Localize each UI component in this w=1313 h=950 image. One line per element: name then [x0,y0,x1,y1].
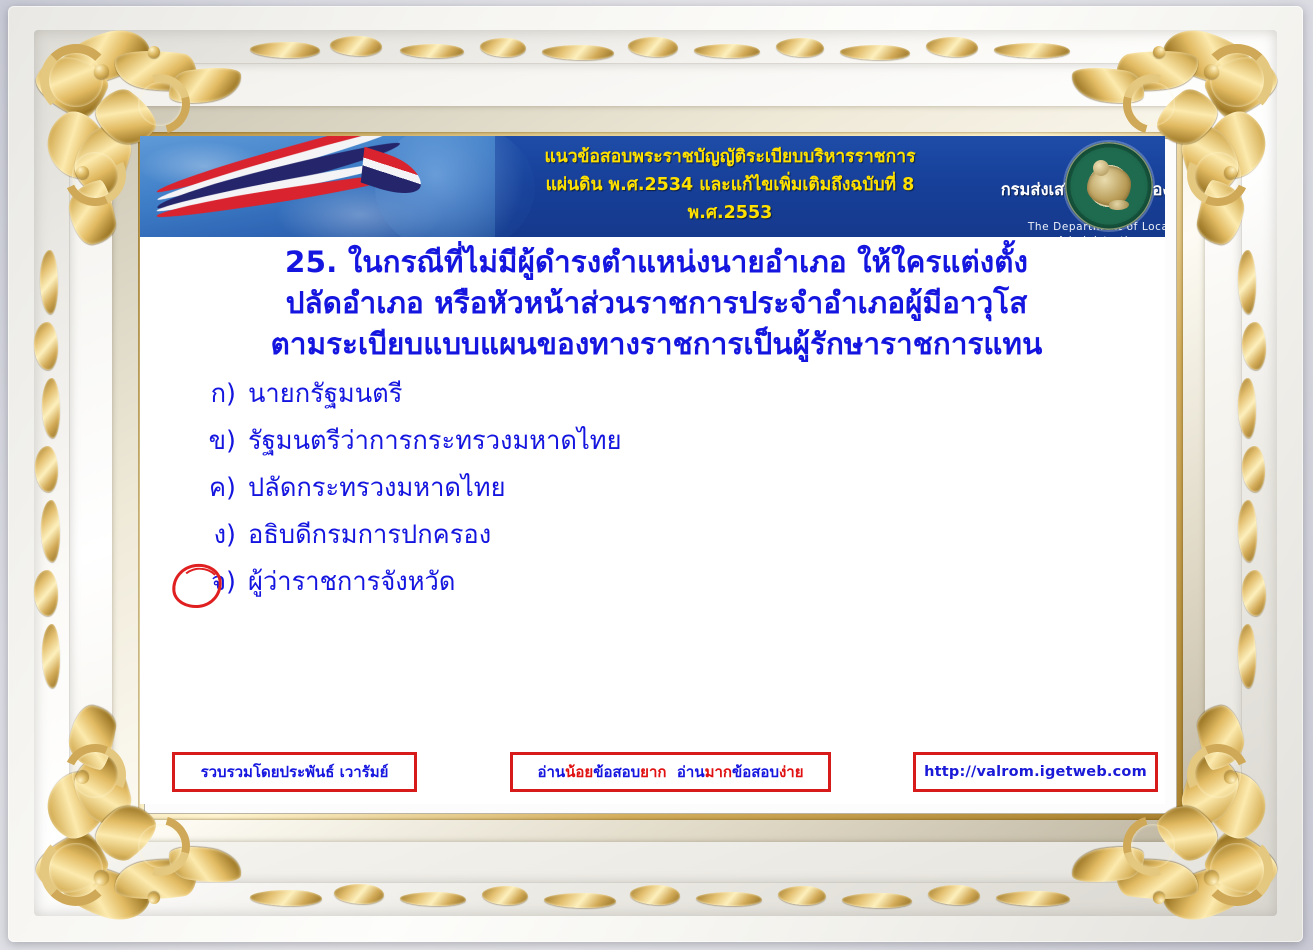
choice-key-4: ง) [174,520,248,550]
banner-title-line-1: แนวข้อสอบพระราชบัญญัติระเบียบบริหารราชกา… [470,143,990,171]
slogan-seg-1: อ่าน [537,760,565,784]
question-text: 25. ในกรณีที่ไม่มีผู้ดำรงตำแหน่งนายอำเภอ… [164,242,1149,365]
department-seal-icon [1065,142,1153,230]
author-label: รวบรวมโดยประพันธ์ เวารัมย์ [201,760,389,784]
slogan-seg-6: มาก [705,760,732,784]
choice-item-3[interactable]: ค) ปลัดกระทรวงมหาดไทย [174,464,1114,511]
choice-key-1: ก) [174,379,248,409]
choice-item-5[interactable]: จ) ผู้ว่าราชการจังหวัด [174,558,1114,605]
choice-text-1: นายกรัฐมนตรี [248,378,402,410]
slogan-seg-2: น้อย [565,760,593,784]
banner-title: แนวข้อสอบพระราชบัญญัติระเบียบบริหารราชกา… [470,143,990,227]
banner-title-line-2: แผ่นดิน พ.ศ.2534 และแก้ไขเพิ่มเติมถึงฉบั… [470,171,990,199]
banner-title-line-3: พ.ศ.2553 [470,199,990,227]
choice-item-1[interactable]: ก) นายกรัฐมนตรี [174,370,1114,417]
slide-footer: รวบรวมโดยประพันธ์ เวารัมย์ อ่านน้อยข้อสอ… [140,752,1165,792]
slogan-seg-8: ง่าย [779,760,804,784]
website-url-label: http://valrom.igetweb.com [924,764,1147,780]
question-line-2: ปลัดอำเภอ หรือหัวหน้าส่วนราชการประจำอำเภ… [164,283,1149,324]
slogan-seg-3: ข้อสอบ [593,760,640,784]
choice-text-4: อธิบดีกรมการปกครอง [248,519,491,551]
slide: แนวข้อสอบพระราชบัญญัติระเบียบบริหารราชกา… [140,136,1165,804]
choice-key-5: จ) [174,567,248,597]
scene: แนวข้อสอบพระราชบัญญัติระเบียบบริหารราชกา… [0,0,1313,950]
question-line-1: 25. ในกรณีที่ไม่มีผู้ดำรงตำแหน่งนายอำเภอ… [164,242,1149,283]
choice-list: ก) นายกรัฐมนตรี ข) รัฐมนตรีว่าการกระทรวง… [174,370,1114,605]
choice-text-2: รัฐมนตรีว่าการกระทรวงมหาดไทย [248,425,622,457]
department-name-english: The Department of Local Administration [995,220,1165,237]
author-box: รวบรวมโดยประพันธ์ เวารัมย์ [172,752,417,792]
choice-text-5: ผู้ว่าราชการจังหวัด [248,566,455,598]
slogan-seg-4: ยาก [640,760,666,784]
slogan-box: อ่านน้อยข้อสอบยาก อ่านมากข้อสอบง่าย [510,752,831,792]
website-url-box[interactable]: http://valrom.igetweb.com [913,752,1158,792]
question-line-3: ตามระเบียบแบบแผนของทางราชการเป็นผู้รักษา… [164,324,1149,365]
slogan-seg-7: ข้อสอบ [732,760,779,784]
slide-body: 25. ในกรณีที่ไม่มีผู้ดำรงตำแหน่งนายอำเภอ… [140,237,1165,804]
slide-header-banner: แนวข้อสอบพระราชบัญญัติระเบียบบริหารราชกา… [140,136,1165,237]
choice-key-3: ค) [174,473,248,503]
slogan-seg-5: อ่าน [666,760,704,784]
choice-text-3: ปลัดกระทรวงมหาดไทย [248,472,506,504]
choice-item-2[interactable]: ข) รัฐมนตรีว่าการกระทรวงมหาดไทย [174,417,1114,464]
choice-key-2: ข) [174,426,248,456]
choice-item-4[interactable]: ง) อธิบดีกรมการปกครอง [174,511,1114,558]
